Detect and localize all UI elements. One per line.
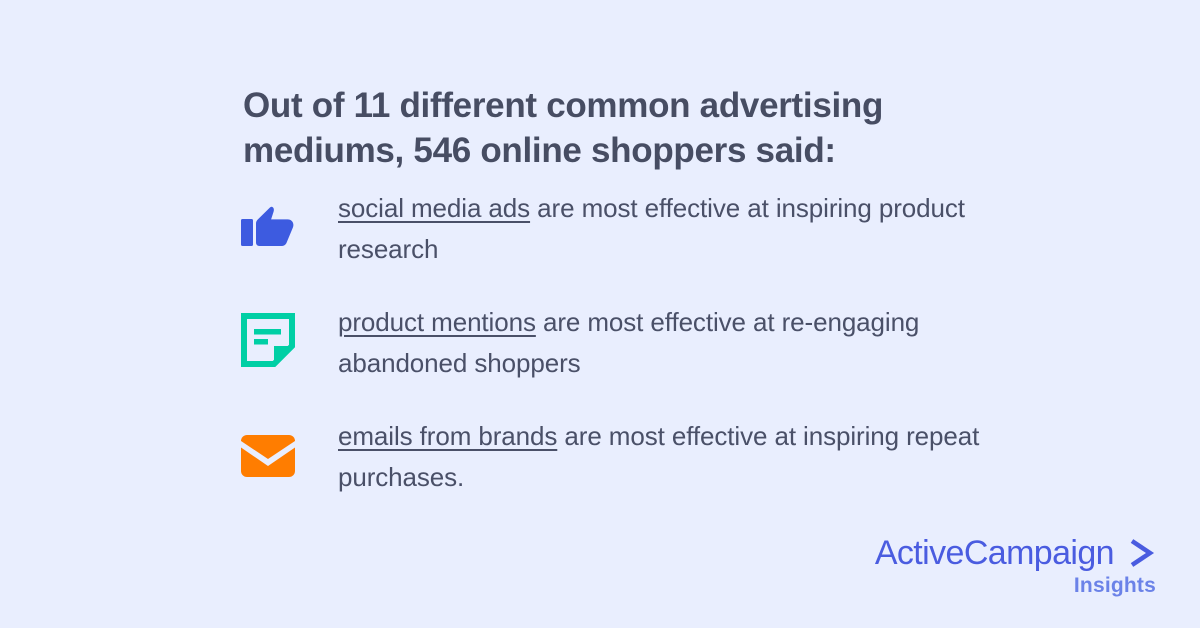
finding-lead: social media ads bbox=[338, 193, 530, 223]
finding-lead: product mentions bbox=[338, 307, 536, 337]
findings-list: social media ads are most effective at i… bbox=[240, 186, 1020, 498]
note-icon bbox=[240, 312, 296, 368]
infographic-canvas: Out of 11 different common advertising m… bbox=[0, 0, 1200, 628]
finding-lead: emails from brands bbox=[338, 421, 557, 451]
finding-text: social media ads are most effective at i… bbox=[338, 186, 1020, 270]
thumbs-up-icon bbox=[240, 198, 296, 254]
logo-sublabel: Insights bbox=[875, 574, 1156, 598]
finding-text: emails from brands are most effective at… bbox=[338, 414, 1020, 498]
activecampaign-logo: ActiveCampaign Insights bbox=[875, 534, 1156, 598]
logo-wordmark-row: ActiveCampaign bbox=[875, 534, 1156, 572]
list-item: emails from brands are most effective at… bbox=[240, 414, 1020, 498]
finding-text: product mentions are most effective at r… bbox=[338, 300, 1020, 384]
chevron-right-icon bbox=[1126, 537, 1156, 569]
logo-wordmark-text: ActiveCampaign bbox=[875, 534, 1114, 572]
page-title: Out of 11 different common advertising m… bbox=[243, 83, 1003, 173]
list-item: product mentions are most effective at r… bbox=[240, 300, 1020, 384]
list-item: social media ads are most effective at i… bbox=[240, 186, 1020, 270]
envelope-icon bbox=[240, 428, 296, 484]
